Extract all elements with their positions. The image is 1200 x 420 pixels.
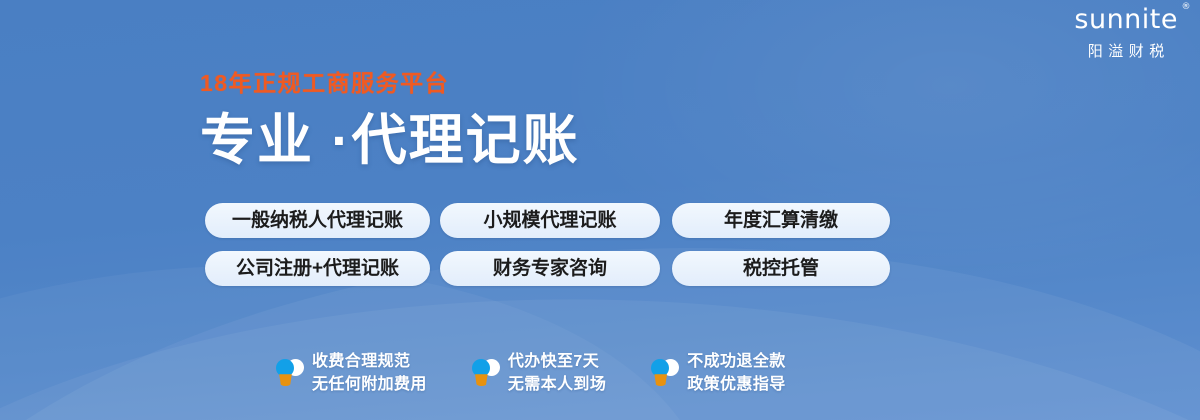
feature-item-text: 代办快至7天 无需本人到场 (508, 350, 606, 396)
feature-line-1: 收费合理规范 (312, 350, 427, 373)
service-pill-row: 公司注册+代理记账 财务专家咨询 税控托管 (205, 251, 890, 286)
hero-copy: 18年正规工商服务平台 专业 ·代理记账 (200, 72, 580, 170)
service-pill-annual-settlement[interactable]: 年度汇算清缴 (672, 203, 890, 238)
hero-kicker: 18年正规工商服务平台 (200, 72, 580, 95)
feature-item-pricing: 收费合理规范 无任何附加费用 (275, 350, 427, 396)
service-pill-tax-control-hosting[interactable]: 税控托管 (672, 251, 890, 286)
feature-item-text: 收费合理规范 无任何附加费用 (312, 350, 427, 396)
brand-logo[interactable]: sunnite® 阳溢财税 (1074, 6, 1178, 61)
brand-logo-wordmark: sunnite® (1074, 6, 1178, 33)
feature-line-2: 政策优惠指导 (687, 373, 785, 396)
service-pill-general-taxpayer-bookkeeping[interactable]: 一般纳税人代理记账 (205, 203, 430, 238)
brand-logo-chinese-name: 阳溢财税 (1074, 40, 1178, 61)
check-badge-icon-base (278, 374, 293, 386)
check-badge-icon-base (474, 374, 489, 386)
service-pill-finance-expert-consulting[interactable]: 财务专家咨询 (440, 251, 660, 286)
hero-headline: 专业 ·代理记账 (200, 112, 580, 170)
service-pill-small-scale-bookkeeping[interactable]: 小规模代理记账 (440, 203, 660, 238)
service-pill-row: 一般纳税人代理记账 小规模代理记账 年度汇算清缴 (205, 203, 890, 238)
feature-item-guarantee: 不成功退全款 政策优惠指导 (650, 350, 785, 396)
feature-item-text: 不成功退全款 政策优惠指导 (687, 350, 785, 396)
check-badge-icon-base (653, 374, 668, 386)
check-badge-icon (275, 357, 303, 389)
feature-list: 收费合理规范 无任何附加费用 代办快至7天 无需本人到场 不成功退全款 (275, 350, 830, 396)
check-badge-icon (471, 357, 499, 389)
feature-line-2: 无任何附加费用 (312, 373, 427, 396)
feature-line-2: 无需本人到场 (508, 373, 606, 396)
service-pill-list: 一般纳税人代理记账 小规模代理记账 年度汇算清缴 公司注册+代理记账 财务专家咨… (205, 203, 890, 299)
feature-line-1: 不成功退全款 (687, 350, 785, 373)
service-pill-company-registration-bookkeeping[interactable]: 公司注册+代理记账 (205, 251, 430, 286)
brand-logo-name: sunnite (1074, 4, 1178, 35)
registered-trademark-icon: ® (1182, 3, 1192, 12)
promo-banner: sunnite® 阳溢财税 18年正规工商服务平台 专业 ·代理记账 一般纳税人… (0, 0, 1200, 420)
feature-line-1: 代办快至7天 (508, 350, 606, 373)
check-badge-icon (650, 357, 678, 389)
feature-item-speed: 代办快至7天 无需本人到场 (471, 350, 606, 396)
